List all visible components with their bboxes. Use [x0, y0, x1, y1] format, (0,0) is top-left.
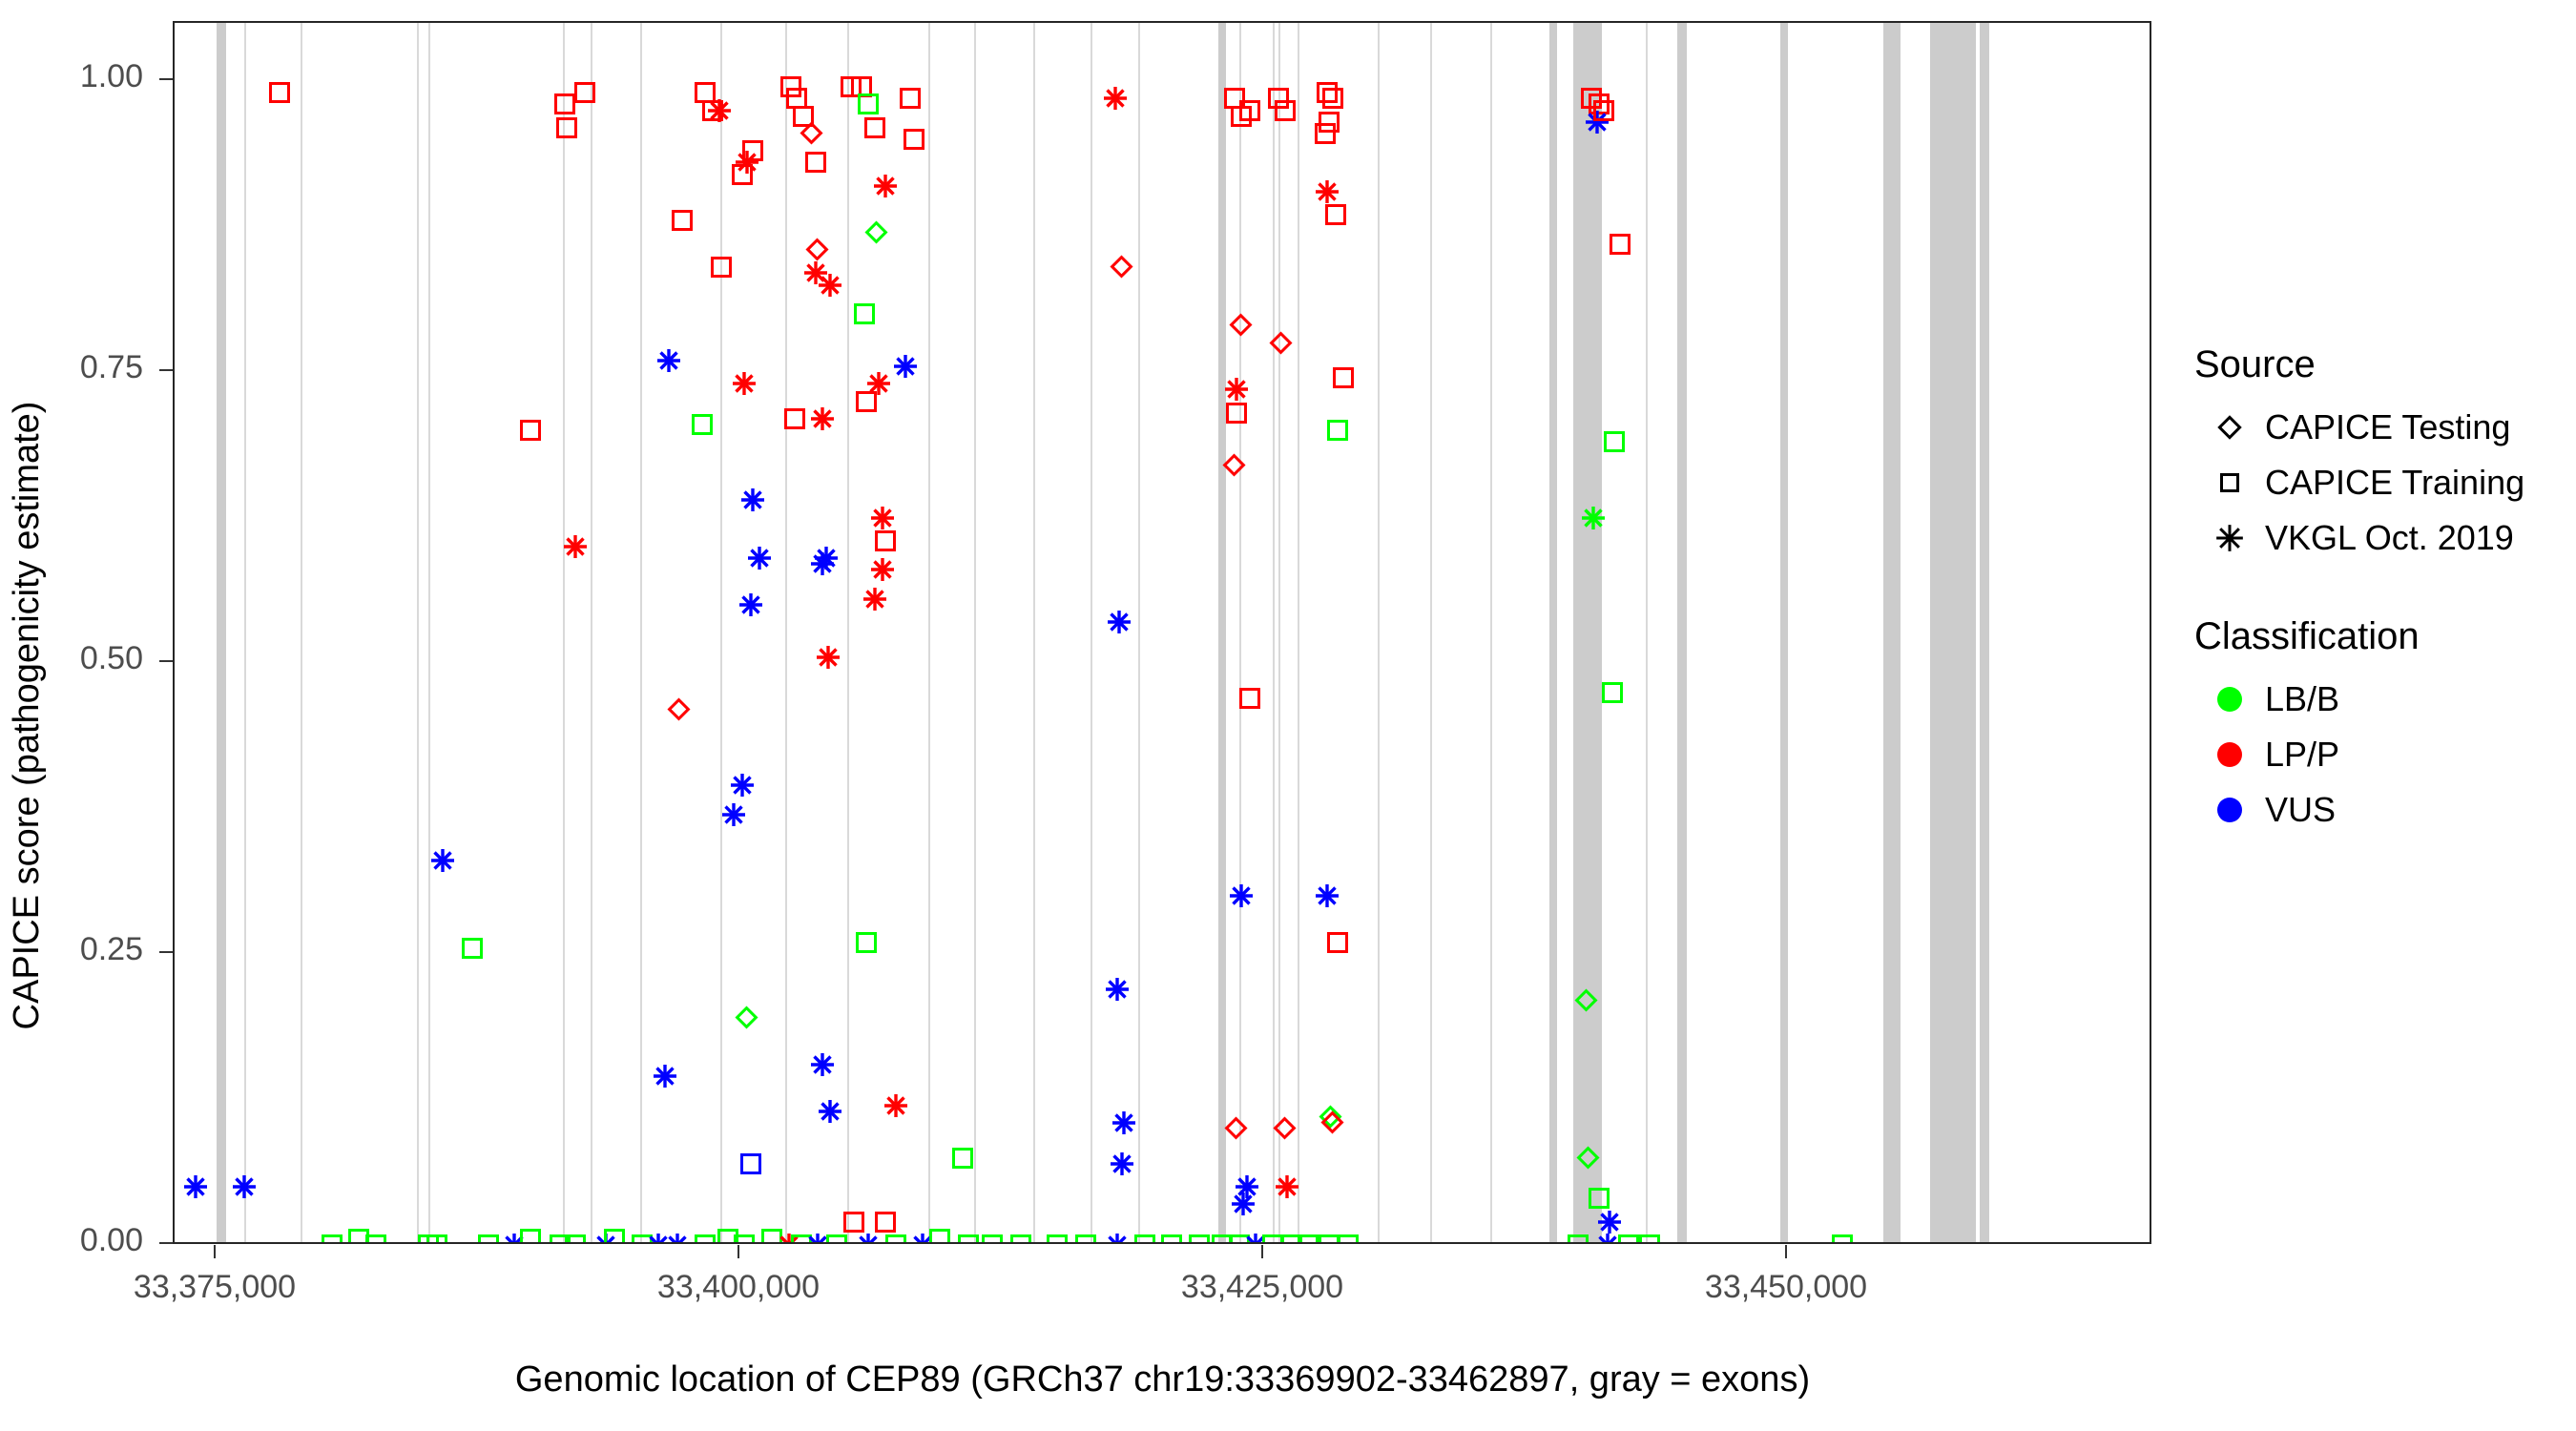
legend-shape-rows: CAPICE TestingCAPICE TrainingVKGL Oct. 2… [2194, 400, 2576, 566]
data-point-asterisk [893, 354, 918, 379]
data-point-square [478, 1234, 499, 1244]
data-point-asterisk [803, 260, 828, 285]
gridline [1646, 23, 1648, 1242]
data-point-square [784, 408, 805, 429]
data-point-asterisk [665, 1233, 690, 1244]
data-point-square [695, 82, 716, 103]
data-point-square [1338, 1234, 1359, 1244]
data-point-square [565, 1234, 586, 1244]
data-point-diamond [1321, 1110, 1344, 1133]
gridline [591, 23, 592, 1242]
data-point-square [1618, 1234, 1639, 1244]
gridline [1430, 23, 1432, 1242]
data-point-square [520, 420, 541, 441]
data-point-square [1298, 1234, 1319, 1244]
data-point-square [786, 88, 807, 109]
legend-item-diamond[interactable]: CAPICE Testing [2194, 400, 2576, 455]
data-point-asterisk [430, 848, 455, 873]
legend-label: LB/B [2265, 679, 2339, 719]
legend-label: VKGL Oct. 2019 [2265, 518, 2514, 558]
square-outline-icon [2194, 473, 2265, 492]
asterisk-icon [2194, 524, 2265, 552]
data-point-asterisk [747, 546, 772, 570]
exon-bar [1677, 23, 1687, 1242]
data-point-asterisk [862, 587, 887, 612]
data-point-diamond [800, 121, 822, 144]
data-point-asterisk [866, 371, 891, 396]
data-point-diamond [1223, 453, 1246, 476]
data-point-square [692, 414, 713, 435]
data-point-asterisk [873, 174, 898, 198]
gridline [1378, 23, 1380, 1242]
data-point-square [1075, 1234, 1096, 1244]
y-tick-mark [159, 369, 173, 371]
data-point-asterisk [814, 546, 839, 570]
x-tick-label: 33,425,000 [1119, 1269, 1405, 1306]
data-point-square [875, 530, 896, 551]
data-point-square [1010, 1234, 1031, 1244]
data-point-square [1189, 1234, 1210, 1244]
data-point-square [958, 1234, 979, 1244]
data-point-square [791, 1234, 812, 1244]
data-point-asterisk [1105, 1233, 1130, 1244]
data-point-square [904, 129, 924, 150]
x-tick-mark [214, 1245, 216, 1258]
legend-color-rows: LB/BLP/PVUS [2194, 672, 2576, 838]
legend-item-asterisk[interactable]: VKGL Oct. 2019 [2194, 510, 2576, 566]
data-point-asterisk [856, 1233, 881, 1244]
data-point-asterisk [1105, 977, 1130, 1002]
x-tick-mark [737, 1245, 739, 1258]
gridline [640, 23, 642, 1242]
data-point-asterisk [1224, 377, 1249, 402]
data-point-square [1322, 88, 1343, 109]
data-point-square [875, 1212, 896, 1233]
data-point-square [1315, 123, 1336, 144]
legend-label: LP/P [2265, 735, 2339, 775]
gridline [244, 23, 246, 1242]
gridline [785, 23, 787, 1242]
data-point-square [462, 938, 483, 959]
data-point-square [1602, 682, 1623, 703]
y-tick-label: 0.00 [19, 1222, 143, 1259]
data-point-asterisk [810, 1052, 835, 1077]
data-point-asterisk [1231, 1192, 1256, 1216]
data-point-square [864, 117, 885, 138]
y-tick-mark [159, 660, 173, 662]
data-point-square [734, 1234, 755, 1244]
data-point-square [841, 76, 862, 97]
data-point-asterisk [653, 1064, 677, 1089]
y-tick-label: 0.25 [19, 931, 143, 968]
data-point-asterisk [1107, 610, 1132, 634]
data-point-asterisk [777, 1233, 801, 1244]
data-point-square [793, 106, 814, 127]
y-tick-label: 0.50 [19, 640, 143, 677]
data-point-square [856, 932, 877, 953]
data-point-asterisk [816, 645, 841, 670]
data-point-asterisk [721, 802, 746, 827]
gridline [720, 23, 722, 1242]
data-point-square [556, 117, 577, 138]
data-point-square [269, 82, 290, 103]
data-point-asterisk [1315, 179, 1340, 204]
x-axis-title: Genomic location of CEP89 (GRCh37 chr19:… [173, 1355, 2152, 1404]
gridline [1298, 23, 1299, 1242]
data-point-square [1226, 403, 1247, 424]
data-point-square [732, 164, 753, 185]
data-point-asterisk [1110, 1151, 1134, 1176]
gridline [1490, 23, 1492, 1242]
data-point-asterisk [1229, 883, 1254, 908]
y-tick-mark [159, 1242, 173, 1244]
data-point-square [604, 1229, 625, 1244]
exon-bar [1218, 23, 1226, 1242]
exon-bar [1930, 23, 1976, 1242]
gridline [1239, 23, 1241, 1242]
data-point-asterisk [870, 506, 895, 530]
data-point-asterisk [870, 557, 895, 582]
data-point-square [1327, 420, 1348, 441]
data-point-square [348, 1229, 369, 1244]
data-point-square [1639, 1234, 1660, 1244]
x-tick-mark [1785, 1245, 1787, 1258]
y-tick-label: 0.75 [19, 349, 143, 386]
data-point-asterisk [910, 1233, 935, 1244]
legend: Source CAPICE TestingCAPICE TrainingVKGL… [2194, 343, 2576, 838]
color-dot-icon [2194, 798, 2265, 822]
exon-bar [217, 23, 226, 1242]
data-point-square [1604, 431, 1625, 452]
data-point-asterisk [810, 406, 835, 431]
data-point-diamond [1110, 256, 1132, 279]
legend-item-vus[interactable]: VUS [2194, 782, 2576, 838]
data-point-asterisk [656, 348, 681, 373]
data-point-square [1224, 88, 1245, 109]
y-tick-label: 1.00 [19, 58, 143, 95]
data-point-asterisk [883, 1093, 908, 1118]
data-point-asterisk [732, 371, 757, 396]
legend-label: VUS [2265, 790, 2336, 830]
data-point-asterisk [740, 487, 765, 512]
y-axis-title: CAPICE score (pathogenicity estimate) [0, 0, 53, 1431]
data-point-square [1325, 204, 1346, 225]
data-point-square [1333, 367, 1354, 388]
data-point-square [740, 1153, 761, 1174]
chart-root: CAPICE score (pathogenicity estimate) 0.… [0, 0, 2576, 1431]
data-point-square [322, 1234, 343, 1244]
data-point-square [554, 93, 575, 114]
data-point-asterisk [1315, 883, 1340, 908]
gridline [928, 23, 930, 1242]
data-point-square [672, 210, 693, 231]
data-point-square [1161, 1234, 1182, 1244]
gridline [974, 23, 976, 1242]
legend-label: CAPICE Testing [2265, 407, 2510, 447]
gridline [428, 23, 430, 1242]
data-point-square [805, 152, 826, 173]
legend-label: CAPICE Training [2265, 463, 2524, 503]
data-point-diamond [1225, 1116, 1248, 1139]
data-point-asterisk [730, 773, 755, 798]
data-point-square [695, 1234, 716, 1244]
data-point-square [742, 140, 763, 161]
gridline [1278, 23, 1280, 1242]
data-point-asterisk [646, 1233, 671, 1244]
data-point-square [900, 88, 921, 109]
gridline [1091, 23, 1092, 1242]
data-point-asterisk [593, 1233, 618, 1244]
data-point-diamond [864, 220, 887, 243]
data-point-square [574, 82, 595, 103]
data-point-square [1231, 106, 1252, 127]
gridline [417, 23, 419, 1242]
data-point-asterisk [563, 534, 588, 559]
plot-panel [173, 21, 2151, 1244]
legend-item-square[interactable]: CAPICE Training [2194, 455, 2576, 510]
data-point-square [854, 303, 875, 324]
data-point-square [761, 1229, 782, 1244]
data-point-square [982, 1234, 1003, 1244]
x-tick-label: 33,400,000 [595, 1269, 882, 1306]
data-point-diamond [668, 697, 691, 720]
data-point-square [1319, 1234, 1340, 1244]
color-dot-icon [2194, 742, 2265, 767]
data-point-square [1317, 82, 1338, 103]
data-point-asterisk [502, 1233, 527, 1244]
x-tick-label: 33,450,000 [1643, 1269, 1929, 1306]
x-tick-mark [1261, 1245, 1263, 1258]
exon-bar [1549, 23, 1557, 1242]
legend-title-source: Source [2194, 343, 2576, 386]
exon-bar [1883, 23, 1901, 1242]
data-point-asterisk [1111, 1110, 1136, 1135]
data-point-square [858, 93, 879, 114]
data-point-asterisk [1103, 86, 1128, 111]
data-point-square [365, 1234, 386, 1244]
data-point-square [952, 1148, 973, 1169]
data-point-asterisk [738, 592, 763, 617]
data-point-square [929, 1229, 950, 1244]
data-point-diamond [1319, 1105, 1342, 1128]
data-point-square [1319, 112, 1340, 133]
exon-bar [1780, 23, 1788, 1242]
x-tick-label: 33,375,000 [72, 1269, 358, 1306]
gridline [1273, 23, 1275, 1242]
gridline [1138, 23, 1140, 1242]
data-point-asterisk [818, 273, 842, 298]
data-point-asterisk [818, 1099, 842, 1124]
gridline [563, 23, 565, 1242]
color-dot-icon [2194, 687, 2265, 712]
data-point-square [826, 1234, 847, 1244]
data-point-square [550, 1234, 571, 1244]
data-point-square [1239, 688, 1260, 709]
data-point-square [632, 1234, 653, 1244]
gridline [847, 23, 849, 1242]
legend-spacer [2194, 566, 2576, 615]
data-point-square [856, 391, 877, 412]
gridline [301, 23, 302, 1242]
data-point-square [851, 76, 872, 97]
data-point-asterisk [810, 551, 835, 576]
data-point-square [520, 1229, 541, 1244]
data-point-asterisk [735, 150, 759, 175]
data-point-square [780, 76, 801, 97]
diamond-outline-icon [2194, 419, 2265, 436]
gridline [1033, 23, 1035, 1242]
legend-item-lp-p[interactable]: LP/P [2194, 727, 2576, 782]
data-point-square [885, 1234, 906, 1244]
data-point-asterisk [805, 1233, 830, 1244]
data-point-square [1047, 1234, 1068, 1244]
data-point-square [1610, 234, 1631, 255]
y-tick-mark [159, 951, 173, 953]
data-point-diamond [806, 238, 829, 260]
data-point-diamond [735, 1006, 758, 1029]
data-point-diamond [1273, 1116, 1296, 1139]
data-point-square [1239, 100, 1260, 121]
y-tick-mark [159, 78, 173, 80]
data-point-square [843, 1212, 864, 1233]
data-point-asterisk [183, 1174, 208, 1199]
exon-bar [1573, 23, 1602, 1242]
legend-item-lb-b[interactable]: LB/B [2194, 672, 2576, 727]
data-point-asterisk [1243, 1233, 1268, 1244]
exon-bar [1980, 23, 1989, 1242]
legend-title-classification: Classification [2194, 615, 2576, 658]
data-point-square [1327, 932, 1348, 953]
data-point-square [1832, 1234, 1853, 1244]
